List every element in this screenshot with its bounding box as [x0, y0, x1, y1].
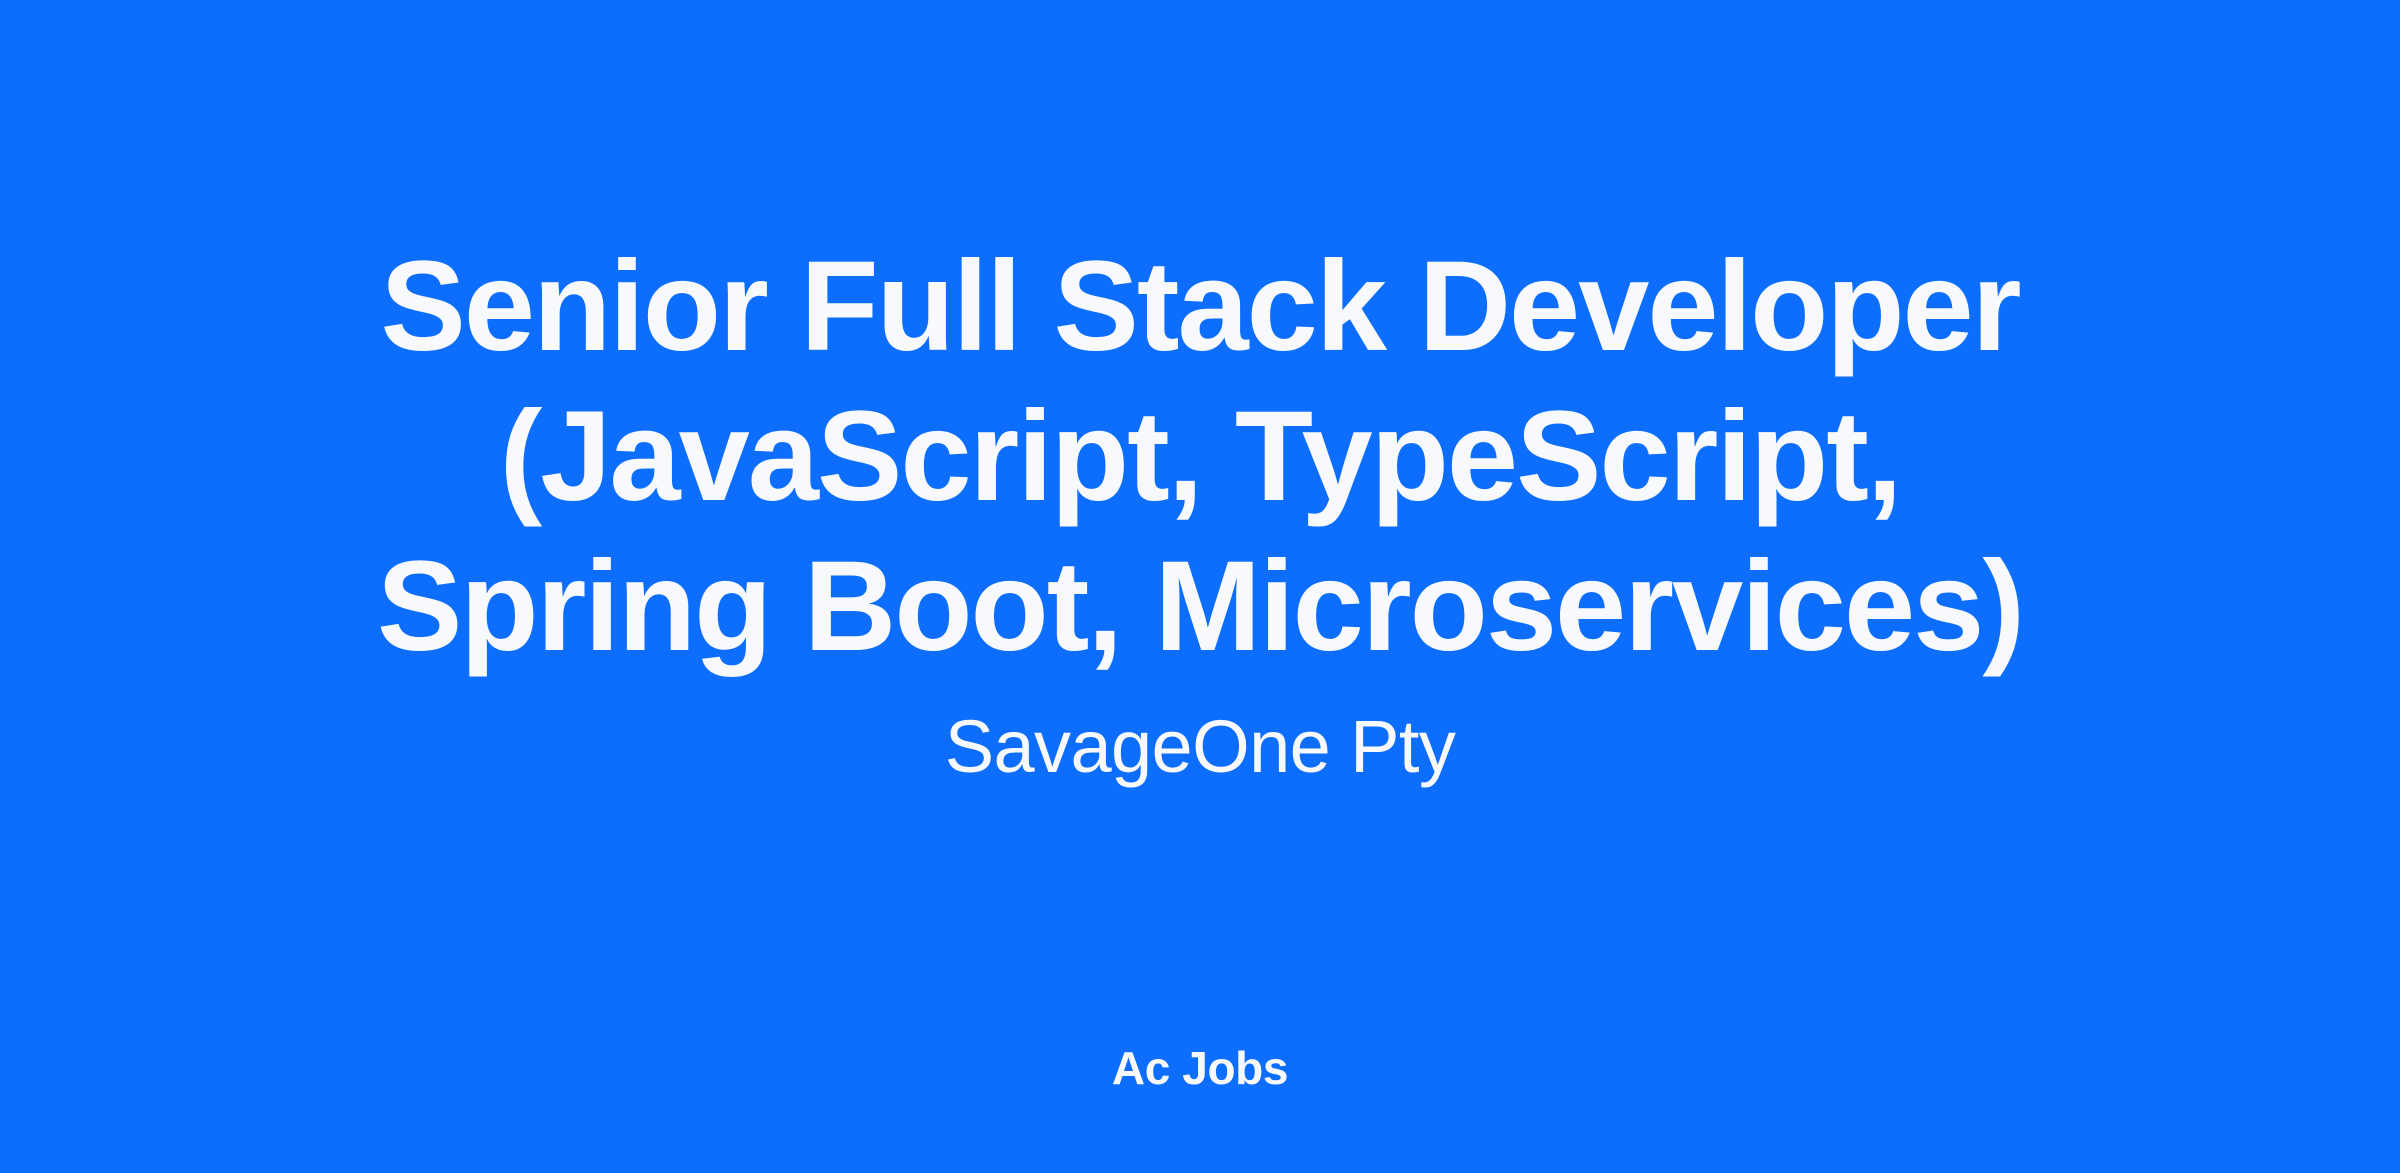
company-name: SavageOne Pty	[350, 682, 2050, 790]
page-title: Senior Full Stack Developer (JavaScript,…	[350, 232, 2050, 682]
job-summary-block: Senior Full Stack Developer (JavaScript,…	[350, 232, 2050, 790]
brand-footer: Ac Jobs	[350, 1040, 2050, 1096]
brand-label: Ac Jobs	[350, 1040, 2050, 1096]
job-posting-card: Senior Full Stack Developer (JavaScript,…	[0, 0, 2400, 1173]
